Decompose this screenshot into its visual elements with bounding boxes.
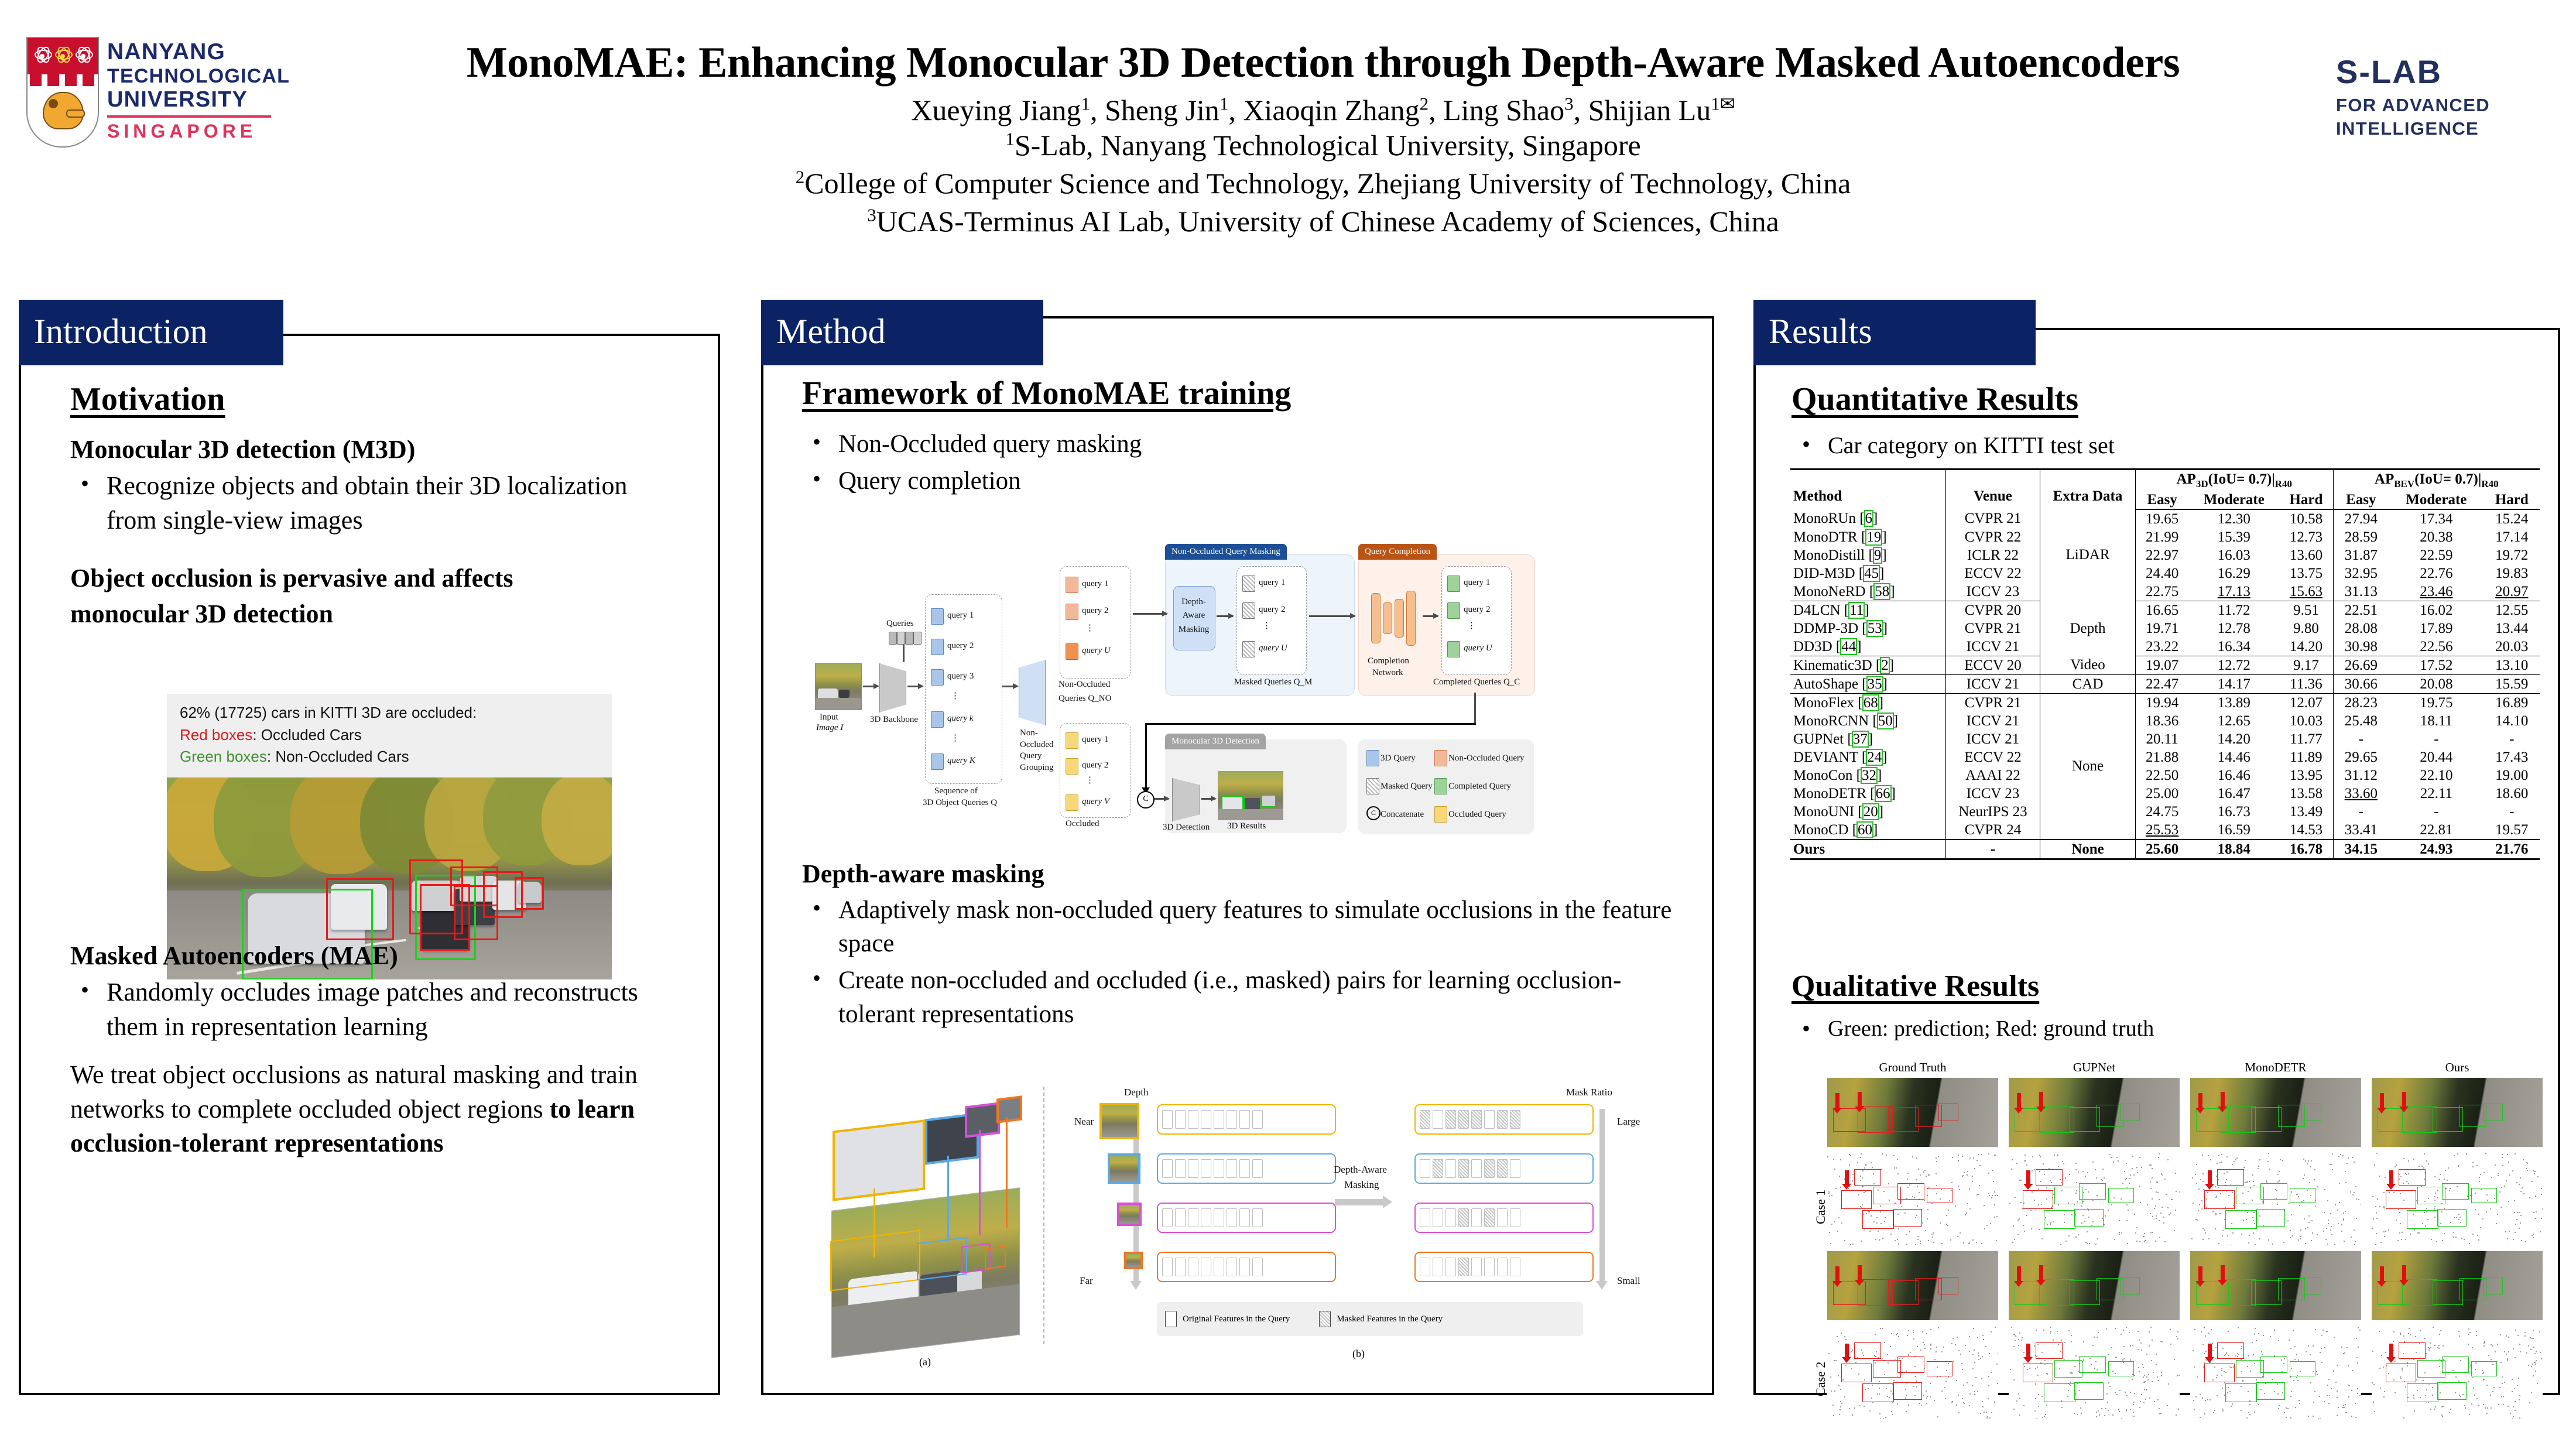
cell-venue: CVPR 21 bbox=[1946, 694, 2040, 712]
qual-bbox bbox=[2070, 1107, 2100, 1132]
cell-apbev: 28.08 bbox=[2333, 619, 2389, 638]
quantitative-results-title: Quantitative Results bbox=[1791, 381, 2535, 418]
kitti-caption-line1: 62% (17725) cars in KITTI 3D are occlude… bbox=[180, 702, 602, 724]
cell-apbev: 28.59 bbox=[2333, 528, 2389, 546]
query-label: query k bbox=[947, 714, 974, 724]
input-label-line2: Image I bbox=[816, 723, 843, 733]
cell-ap3d: 15.39 bbox=[2188, 528, 2279, 546]
cell-apbev: 22.76 bbox=[2389, 564, 2484, 583]
list-item: Recognize objects and obtain their 3D lo… bbox=[70, 469, 679, 537]
qual-3d-bbox bbox=[2417, 1360, 2445, 1378]
cell-venue: AAAI 22 bbox=[1946, 766, 2040, 785]
poster-header: NANYANG TECHNOLOGICAL UNIVERSITY SINGAPO… bbox=[0, 0, 2576, 293]
quantitative-bullets: Car category on KITTI test set bbox=[1791, 430, 2535, 461]
cell-ap3d: 16.78 bbox=[2279, 840, 2333, 859]
cell-apbev: 16.02 bbox=[2389, 601, 2484, 620]
cell-ap3d: 13.58 bbox=[2279, 785, 2333, 803]
cell-ap3d: 16.59 bbox=[2188, 821, 2279, 840]
qual-arrow-marker bbox=[2198, 1266, 2202, 1282]
cell-venue: ICCV 21 bbox=[1946, 638, 2040, 656]
cell-method: MonoNeRD [58] bbox=[1790, 583, 1946, 601]
cell-apbev: 20.03 bbox=[2484, 638, 2540, 656]
cell-ap3d: 13.89 bbox=[2188, 694, 2279, 712]
table-row: DDMP-3D [53]CVPR 2119.7112.789.8028.0817… bbox=[1790, 619, 2540, 638]
qual-3d-bbox bbox=[2108, 1361, 2134, 1376]
cell-apbev: 22.11 bbox=[2389, 785, 2484, 803]
feature-row-original bbox=[1157, 1252, 1336, 1282]
cell-method: MonoRUn [6] bbox=[1790, 509, 1946, 528]
cell-ap3d: 18.36 bbox=[2136, 712, 2189, 730]
qual-arrow-marker bbox=[1835, 1093, 1839, 1108]
qual-3d-bbox bbox=[2036, 1169, 2063, 1186]
cell-apbev: 25.48 bbox=[2333, 712, 2389, 730]
page-title: MonoMAE: Enhancing Monocular 3D Detectio… bbox=[328, 40, 2318, 85]
qual-arrow-marker bbox=[2402, 1092, 2406, 1107]
qual-3d-bbox bbox=[2236, 1360, 2264, 1378]
qual-arrow-marker bbox=[2380, 1093, 2384, 1108]
qual-arrow-marker bbox=[2198, 1093, 2202, 1108]
qual-3d-bbox bbox=[1862, 1210, 1894, 1229]
qual-bbox bbox=[2433, 1280, 2463, 1305]
cell-ap3d: 25.60 bbox=[2136, 840, 2189, 859]
cell-ap3d: 22.97 bbox=[2136, 546, 2189, 564]
cell-apbev: 31.13 bbox=[2333, 583, 2389, 601]
qual-image-cell bbox=[2009, 1251, 2180, 1320]
non-occluded-label-line1: Non-Occluded bbox=[1059, 680, 1110, 690]
completion-network-line1: Completion bbox=[1368, 656, 1409, 666]
author-list: Xueying Jiang1, Sheng Jin1, Xiaoqin Zhan… bbox=[328, 94, 2318, 126]
cell-apbev: 30.66 bbox=[2333, 675, 2389, 694]
cell-ap3d: 25.53 bbox=[2136, 821, 2189, 840]
cell-apbev: 17.34 bbox=[2389, 509, 2484, 528]
cell-ap3d: 23.22 bbox=[2136, 638, 2189, 656]
qual-lidar-cell bbox=[2009, 1153, 2180, 1245]
cell-ap3d: 12.78 bbox=[2188, 619, 2279, 638]
concatenate-node: C bbox=[1137, 791, 1155, 809]
cell-apbev: 20.97 bbox=[2484, 583, 2540, 601]
qual-3d-bbox bbox=[2386, 1190, 2416, 1209]
cell-apbev: - bbox=[2389, 803, 2484, 821]
affiliation-1: 1S-Lab, Nanyang Technological University… bbox=[328, 126, 2318, 165]
cell-method: DDMP-3D [53] bbox=[1790, 619, 1946, 638]
cell-venue: ICCV 21 bbox=[1946, 730, 2040, 748]
banner-method: Method bbox=[761, 300, 1043, 365]
cell-method: DID-M3D [45] bbox=[1790, 564, 1946, 583]
feature-row-original bbox=[1157, 1104, 1336, 1135]
query-label: query 2 bbox=[947, 641, 974, 651]
cell-ap3d: 22.50 bbox=[2136, 766, 2189, 785]
large-label: Large bbox=[1617, 1116, 1640, 1128]
qual-arrow-marker bbox=[2208, 1344, 2212, 1358]
table-row: MonoFlex [68]CVPR 21None19.9413.8912.072… bbox=[1790, 694, 2540, 712]
qual-bbox bbox=[2251, 1280, 2282, 1305]
cell-apbev: 17.52 bbox=[2389, 656, 2484, 675]
cell-apbev: 17.14 bbox=[2484, 528, 2540, 546]
qual-3d-bbox bbox=[1897, 1183, 1924, 1200]
qual-arrow-marker bbox=[2221, 1265, 2225, 1280]
cell-method: MonoCon [32] bbox=[1790, 766, 1946, 785]
cell-ap3d: 13.49 bbox=[2279, 803, 2333, 821]
list-item: Query completion bbox=[802, 464, 1680, 498]
cell-ap3d: 16.03 bbox=[2188, 546, 2279, 564]
cell-ap3d: 16.46 bbox=[2188, 766, 2279, 785]
completed-queries-label: Completed Queries Q_C bbox=[1433, 677, 1520, 687]
cell-ap3d: 16.29 bbox=[2188, 564, 2279, 583]
qualitative-content: Qualitative Results Green: prediction; R… bbox=[1791, 969, 2535, 1047]
qual-arrow-marker bbox=[2026, 1344, 2030, 1358]
cell-venue: NeurIPS 23 bbox=[1946, 803, 2040, 821]
qual-3d-bbox bbox=[2108, 1188, 2134, 1203]
introduction-content-lower: Masked Autoencoders (MAE) Randomly occlu… bbox=[70, 940, 679, 1161]
cell-ap3d: 19.94 bbox=[2136, 694, 2189, 712]
cell-ap3d: 21.99 bbox=[2136, 528, 2189, 546]
feature-row-masked bbox=[1414, 1153, 1594, 1184]
cell-apbev: 26.69 bbox=[2333, 656, 2389, 675]
qual-3d-bbox bbox=[2054, 1360, 2082, 1378]
qual-3d-bbox bbox=[2290, 1361, 2315, 1376]
kitti-occlusion-figure: 62% (17725) cars in KITTI 3D are occlude… bbox=[167, 694, 612, 979]
cell-venue: ICLR 22 bbox=[1946, 546, 2040, 564]
table-row: MonoUNI [20]NeurIPS 2324.7516.7313.49--- bbox=[1790, 803, 2540, 821]
qual-3d-bbox bbox=[2204, 1364, 2235, 1382]
cell-apbev: 14.10 bbox=[2484, 712, 2540, 730]
cell-ap3d: 12.72 bbox=[2188, 656, 2279, 675]
m3d-bullets: Recognize objects and obtain their 3D lo… bbox=[70, 469, 679, 537]
cell-apbev: 13.10 bbox=[2484, 656, 2540, 675]
cell-ap3d: 10.58 bbox=[2279, 509, 2333, 528]
cell-ap3d: 25.00 bbox=[2136, 785, 2189, 803]
qual-image-cell bbox=[2372, 1078, 2543, 1147]
qual-3d-bbox bbox=[2036, 1342, 2063, 1359]
cell-ap3d: 14.20 bbox=[2279, 638, 2333, 656]
col-extra-data: Extra Data bbox=[2040, 470, 2136, 510]
grouping-block bbox=[1019, 660, 1046, 725]
qual-3d-bbox bbox=[2442, 1356, 2469, 1373]
kitti-red-text: : Occluded Cars bbox=[252, 726, 361, 744]
cell-apbev: 31.12 bbox=[2333, 766, 2389, 785]
cell-apbev: 27.94 bbox=[2333, 509, 2389, 528]
qual-arrow-marker bbox=[1845, 1170, 1849, 1184]
qual-3d-bbox bbox=[2290, 1188, 2315, 1203]
depth-axis-label: Depth bbox=[1124, 1087, 1149, 1098]
table-row: MonoDTR [19]CVPR 2221.9915.3912.7328.592… bbox=[1790, 528, 2540, 546]
qual-3d-bbox bbox=[2399, 1342, 2426, 1359]
cell-method: DEVIANT [24] bbox=[1790, 748, 1946, 766]
qual-3d-bbox bbox=[2442, 1183, 2469, 1200]
affiliation-2: 2College of Computer Science and Technol… bbox=[328, 165, 2318, 203]
cell-ap3d: 20.11 bbox=[2136, 730, 2189, 748]
cell-apbev: 17.89 bbox=[2389, 619, 2484, 638]
qual-3d-bbox bbox=[2054, 1187, 2082, 1204]
query-label: query 1 bbox=[1259, 578, 1285, 588]
table-row: DD3D [44]ICCV 2123.2216.3414.2030.9822.5… bbox=[1790, 638, 2540, 656]
small-label: Small bbox=[1617, 1275, 1640, 1287]
qual-3d-bbox bbox=[2260, 1183, 2287, 1200]
query-label: query 2 bbox=[1082, 761, 1108, 770]
cell-extra-data: LiDAR bbox=[2040, 509, 2136, 601]
cell-apbev: - bbox=[2484, 803, 2540, 821]
legend-label: Non-Occluded Query bbox=[1448, 753, 1525, 763]
cell-apbev: 19.83 bbox=[2484, 564, 2540, 583]
cell-method: D4LCN [11] bbox=[1790, 601, 1946, 620]
col-ap3d: AP3D(IoU= 0.7)|R40 bbox=[2136, 470, 2334, 491]
cell-apbev: 29.65 bbox=[2333, 748, 2389, 766]
qual-3d-bbox bbox=[2471, 1188, 2497, 1203]
qual-3d-bbox bbox=[1893, 1209, 1922, 1227]
table-row: DEVIANT [24]ECCV 2221.8814.4611.8929.652… bbox=[1790, 748, 2540, 766]
cell-ap3d: 14.17 bbox=[2188, 675, 2279, 694]
query-label: query 3 bbox=[947, 672, 974, 681]
table-row: MonoRCNN [50]ICCV 2118.3612.6510.0325.48… bbox=[1790, 712, 2540, 730]
qual-bbox bbox=[2120, 1104, 2140, 1121]
cell-ap3d: 11.36 bbox=[2279, 675, 2333, 694]
qual-3d-bbox bbox=[2437, 1209, 2467, 1227]
ntu-logo-line4: SINGAPORE bbox=[107, 121, 290, 142]
legend-original-label: Original Features in the Query bbox=[1183, 1314, 1290, 1324]
cell-ap3d: 12.65 bbox=[2188, 712, 2279, 730]
table-header: Method Venue Extra Data AP3D(IoU= 0.7)|R… bbox=[1790, 470, 2540, 510]
cell-ap3d: 22.47 bbox=[2136, 675, 2189, 694]
depth-aware-masking-bullets: Adaptively mask non-occluded query featu… bbox=[802, 893, 1680, 1031]
kitti-green-text: : Non-Occluded Cars bbox=[267, 748, 409, 765]
subcol-easy: Easy bbox=[2136, 491, 2189, 509]
motivation-title: Motivation bbox=[70, 381, 679, 418]
cell-apbev: 32.95 bbox=[2333, 564, 2389, 583]
cell-extra-data: None bbox=[2040, 840, 2136, 859]
masking-arrow-label-line1: Depth-Aware bbox=[1334, 1164, 1387, 1176]
banner-introduction: Introduction bbox=[19, 300, 283, 365]
qual-column-header: MonoDETR bbox=[2190, 1060, 2361, 1075]
feature-row-masked bbox=[1414, 1203, 1594, 1233]
subcol-moderate: Moderate bbox=[2389, 491, 2484, 509]
qual-lidar-cell bbox=[2372, 1153, 2543, 1245]
qual-arrow-marker bbox=[2389, 1344, 2393, 1358]
cell-apbev: 18.11 bbox=[2389, 712, 2484, 730]
cell-method: GUPNet [37] bbox=[1790, 730, 1946, 748]
list-item: Adaptively mask non-occluded query featu… bbox=[802, 893, 1680, 960]
cell-venue: ECCV 22 bbox=[1946, 748, 2040, 766]
cell-apbev: 22.56 bbox=[2389, 638, 2484, 656]
qual-lidar-cell bbox=[1827, 1153, 1998, 1245]
qual-column-header: GUPNet bbox=[2009, 1060, 2180, 1075]
legend-label: 3D Query bbox=[1381, 753, 1416, 763]
table-row: MonoDETR [66]ICCV 2325.0016.4713.5833.60… bbox=[1790, 785, 2540, 803]
m3d-heading: Monocular 3D detection (M3D) bbox=[70, 433, 679, 465]
qualitative-bullets: Green: prediction; Red: ground truth bbox=[1791, 1014, 2535, 1044]
qual-3d-bbox bbox=[2074, 1209, 2104, 1227]
cell-method: Ours bbox=[1790, 840, 1946, 859]
qual-image-cell bbox=[2009, 1078, 2180, 1147]
depth-aware-masking-text: Depth-aware masking Adaptively mask non-… bbox=[802, 858, 1680, 1034]
qual-arrow-marker bbox=[2380, 1266, 2384, 1282]
backbone-label: 3D Backbone bbox=[870, 715, 918, 725]
cell-apbev: 20.08 bbox=[2389, 675, 2484, 694]
cell-apbev: 31.87 bbox=[2333, 546, 2389, 564]
affiliation-3: 3UCAS-Terminus AI Lab, University of Chi… bbox=[328, 203, 2318, 241]
near-label: Near bbox=[1074, 1116, 1094, 1128]
feature-legend: Original Features in the Query Masked Fe… bbox=[1157, 1302, 1583, 1336]
cell-ap3d: 14.20 bbox=[2188, 730, 2279, 748]
ntu-logo-line1: NANYANG bbox=[107, 39, 290, 65]
qual-3d-bbox bbox=[1841, 1364, 1872, 1382]
qual-3d-bbox bbox=[1927, 1188, 1952, 1203]
bbox-red bbox=[326, 878, 394, 940]
qual-3d-bbox bbox=[2204, 1190, 2235, 1209]
qual-3d-bbox bbox=[2225, 1210, 2257, 1229]
table-row-ours: Ours-None25.6018.8416.7834.1524.9321.76 bbox=[1790, 840, 2540, 859]
ntu-logo: NANYANG TECHNOLOGICAL UNIVERSITY SINGAPO… bbox=[26, 35, 278, 146]
cell-apbev: 33.41 bbox=[2333, 821, 2389, 840]
cell-apbev: 19.75 bbox=[2389, 694, 2484, 712]
qual-bbox bbox=[2070, 1280, 2100, 1305]
results-content: Quantitative Results Car category on KIT… bbox=[1791, 381, 2535, 464]
cell-method: DD3D [44] bbox=[1790, 638, 1946, 656]
qual-arrow-marker bbox=[1845, 1344, 1849, 1358]
ntu-logo-line3: UNIVERSITY bbox=[107, 87, 290, 112]
banner-results: Results bbox=[1753, 300, 2036, 365]
cell-ap3d: 11.77 bbox=[2279, 730, 2333, 748]
cell-method: MonoDETR [66] bbox=[1790, 785, 1946, 803]
framework-bullets: Non-Occluded query masking Query complet… bbox=[802, 427, 1680, 498]
cell-ap3d: 9.51 bbox=[2279, 601, 2333, 620]
cell-apbev: 34.15 bbox=[2333, 840, 2389, 859]
mae-heading: Masked Autoencoders (MAE) bbox=[70, 940, 679, 972]
cell-ap3d: 16.73 bbox=[2188, 803, 2279, 821]
cell-apbev: 22.81 bbox=[2389, 821, 2484, 840]
subcol-easy: Easy bbox=[2333, 491, 2389, 509]
legend-masked-label: Masked Features in the Query bbox=[1337, 1314, 1443, 1324]
cell-method: MonoFlex [68] bbox=[1790, 694, 1946, 712]
ntu-logo-rule bbox=[107, 115, 271, 118]
cell-venue: ICCV 23 bbox=[1946, 583, 2040, 601]
tab-non-occluded-query-masking: Non-Occluded Query Masking bbox=[1165, 544, 1287, 560]
ntu-crest-icon bbox=[26, 37, 97, 145]
cell-ap3d: 12.73 bbox=[2279, 528, 2333, 546]
cell-ap3d: 21.88 bbox=[2136, 748, 2189, 766]
sequence-label-line2: 3D Object Queries Q bbox=[923, 798, 997, 808]
mask-ratio-label: Mask Ratio bbox=[1566, 1087, 1612, 1098]
table-row: AutoShape [35]ICCV 21CAD22.4714.1711.363… bbox=[1790, 675, 2540, 694]
cell-method: AutoShape [35] bbox=[1790, 675, 1946, 694]
title-block: MonoMAE: Enhancing Monocular 3D Detectio… bbox=[328, 40, 2318, 241]
query-label: query 1 bbox=[1082, 579, 1108, 589]
qual-arrow-marker bbox=[2402, 1265, 2406, 1280]
qual-lidar-cell bbox=[1827, 1326, 1998, 1419]
qual-image-cell bbox=[1827, 1078, 1998, 1147]
figure-a-caption: (a) bbox=[919, 1356, 931, 1368]
query-label: query 1 bbox=[1464, 578, 1490, 588]
3d-results-thumb bbox=[1218, 771, 1283, 820]
cell-ap3d: 14.53 bbox=[2279, 821, 2333, 840]
cell-ap3d: 16.47 bbox=[2188, 785, 2279, 803]
table-body: MonoRUn [6]CVPR 21LiDAR19.6512.3010.5827… bbox=[1790, 509, 2540, 859]
qual-3d-bbox bbox=[2079, 1183, 2106, 1200]
cell-ap3d: 16.34 bbox=[2188, 638, 2279, 656]
ntu-logo-line2: TECHNOLOGICAL bbox=[107, 65, 290, 87]
cell-apbev: 24.93 bbox=[2389, 840, 2484, 859]
cell-apbev: - bbox=[2333, 803, 2389, 821]
qual-3d-bbox bbox=[2225, 1383, 2257, 1402]
cell-apbev: 16.89 bbox=[2484, 694, 2540, 712]
cell-venue: CVPR 20 bbox=[1946, 601, 2040, 620]
qual-arrow-marker bbox=[2208, 1170, 2212, 1184]
depth-aware-masking-diagram: (a) Depth Near Far Mask Ratio Large Smal… bbox=[808, 1071, 1680, 1376]
qual-arrow-marker bbox=[2039, 1265, 2043, 1280]
occlusion-heading-line2: monocular 3D detection bbox=[70, 598, 679, 630]
cell-apbev: 12.55 bbox=[2484, 601, 2540, 620]
cell-apbev: 28.23 bbox=[2333, 694, 2389, 712]
cell-ap3d: 18.84 bbox=[2188, 840, 2279, 859]
cell-apbev: 30.98 bbox=[2333, 638, 2389, 656]
list-item: Non-Occluded query masking bbox=[802, 427, 1680, 461]
qual-3d-bbox bbox=[1873, 1187, 1901, 1204]
completion-network-block bbox=[1370, 583, 1420, 653]
query-label: query K bbox=[947, 756, 975, 766]
subcol-moderate: Moderate bbox=[2188, 491, 2279, 509]
qual-bbox bbox=[1888, 1107, 1919, 1132]
qual-arrow-marker bbox=[1858, 1092, 1862, 1107]
cell-method: MonoDistill [9] bbox=[1790, 546, 1946, 564]
qual-3d-bbox bbox=[1893, 1382, 1922, 1400]
table-row: MonoDistill [9]ICLR 2222.9716.0313.6031.… bbox=[1790, 546, 2540, 564]
queries-label: Queries bbox=[886, 619, 914, 629]
qual-3d-bbox bbox=[2471, 1361, 2497, 1376]
qual-arrow-marker bbox=[2017, 1266, 2021, 1282]
cell-ap3d: 9.17 bbox=[2279, 656, 2333, 675]
query-label: query 1 bbox=[947, 611, 974, 621]
cell-apbev: 13.44 bbox=[2484, 619, 2540, 638]
qual-3d-bbox bbox=[2417, 1187, 2445, 1204]
qual-3d-bbox bbox=[1854, 1342, 1881, 1359]
qual-bbox bbox=[1938, 1277, 1958, 1294]
qual-3d-bbox bbox=[2236, 1187, 2264, 1204]
qual-lidar-cell bbox=[2190, 1326, 2361, 1419]
grouping-label: Non- Occluded Query Grouping bbox=[1020, 728, 1054, 773]
slab-logo-line2: FOR ADVANCED bbox=[2336, 94, 2564, 117]
cell-apbev: 19.72 bbox=[2484, 546, 2540, 564]
qual-3d-bbox bbox=[2407, 1383, 2438, 1402]
qual-image-cell bbox=[2190, 1251, 2361, 1320]
col-method: Method bbox=[1790, 470, 1946, 510]
cell-ap3d: 17.13 bbox=[2188, 583, 2279, 601]
introduction-content: Motivation Monocular 3D detection (M3D) … bbox=[70, 381, 679, 633]
cell-venue: CVPR 21 bbox=[1946, 619, 2040, 638]
subcol-hard: Hard bbox=[2279, 491, 2333, 509]
cell-apbev: 22.10 bbox=[2389, 766, 2484, 785]
cell-venue: ECCV 20 bbox=[1946, 656, 2040, 675]
completion-network-line2: Network bbox=[1372, 668, 1403, 678]
query-label: query 2 bbox=[1259, 605, 1285, 615]
list-item: Green: prediction; Red: ground truth bbox=[1791, 1014, 2535, 1044]
query-label: query 1 bbox=[1082, 735, 1108, 745]
masking-arrow-label-line2: Masking bbox=[1344, 1179, 1379, 1191]
qual-3d-bbox bbox=[1897, 1356, 1924, 1373]
closing-paragraph: We treat object occlusions as natural ma… bbox=[70, 1058, 679, 1161]
slab-logo: S-LAB FOR ADVANCED INTELLIGENCE bbox=[2336, 56, 2564, 140]
masked-queries-label: Masked Queries Q_M bbox=[1234, 677, 1312, 687]
detection-head-line1: 3D Detection bbox=[1163, 823, 1210, 833]
cell-ap3d: 13.95 bbox=[2279, 766, 2333, 785]
non-occluded-label-line2: Queries Q_NO bbox=[1059, 694, 1111, 704]
input-label-line1: Input bbox=[820, 712, 838, 722]
qual-3d-bbox bbox=[2256, 1382, 2285, 1400]
cell-ap3d: 9.80 bbox=[2279, 619, 2333, 638]
cell-venue: CVPR 21 bbox=[1946, 509, 2040, 528]
qual-lidar-cell bbox=[2009, 1326, 2180, 1419]
query-label: query U bbox=[1464, 643, 1492, 653]
legend-label: Completed Query bbox=[1448, 782, 1511, 792]
qual-3d-bbox bbox=[2407, 1210, 2438, 1229]
